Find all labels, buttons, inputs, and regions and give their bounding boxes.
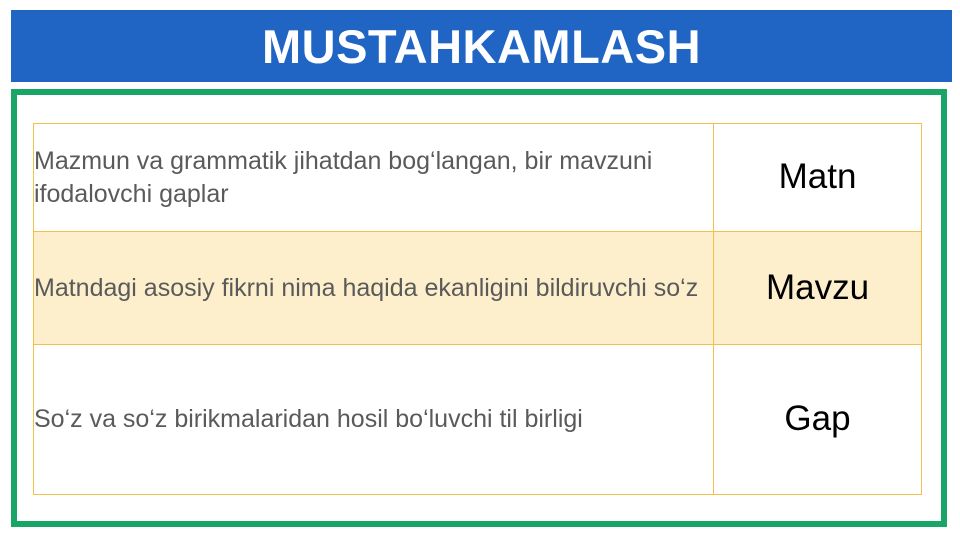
definition-table: Mazmun va grammatik jihatdan bog‘langan,… (33, 123, 922, 495)
table-row: Mazmun va grammatik jihatdan bog‘langan,… (34, 124, 922, 232)
term-cell: Mavzu (714, 232, 922, 345)
definition-cell: Matndagi asosiy fikrni nima haqida ekanl… (34, 232, 714, 345)
definition-text: Mazmun va grammatik jihatdan bog‘langan,… (34, 145, 713, 210)
table-row: Matndagi asosiy fikrni nima haqida ekanl… (34, 232, 922, 345)
term-text: Matn (714, 158, 921, 197)
definition-text: So‘z va so‘z birikmalaridan hosil bo‘luv… (34, 403, 713, 436)
term-cell: Gap (714, 345, 922, 495)
term-text: Mavzu (714, 269, 921, 308)
title-banner: MUSTAHKAMLASH (11, 10, 952, 82)
term-text: Gap (714, 400, 921, 439)
definition-cell: Mazmun va grammatik jihatdan bog‘langan,… (34, 124, 714, 232)
page-title: MUSTAHKAMLASH (262, 23, 701, 70)
definition-text: Matndagi asosiy fikrni nima haqida ekanl… (34, 272, 713, 305)
slide-canvas: MUSTAHKAMLASH Mazmun va grammatik jihatd… (0, 0, 960, 540)
definition-cell: So‘z va so‘z birikmalaridan hosil bo‘luv… (34, 345, 714, 495)
table-row: So‘z va so‘z birikmalaridan hosil bo‘luv… (34, 345, 922, 495)
term-cell: Matn (714, 124, 922, 232)
